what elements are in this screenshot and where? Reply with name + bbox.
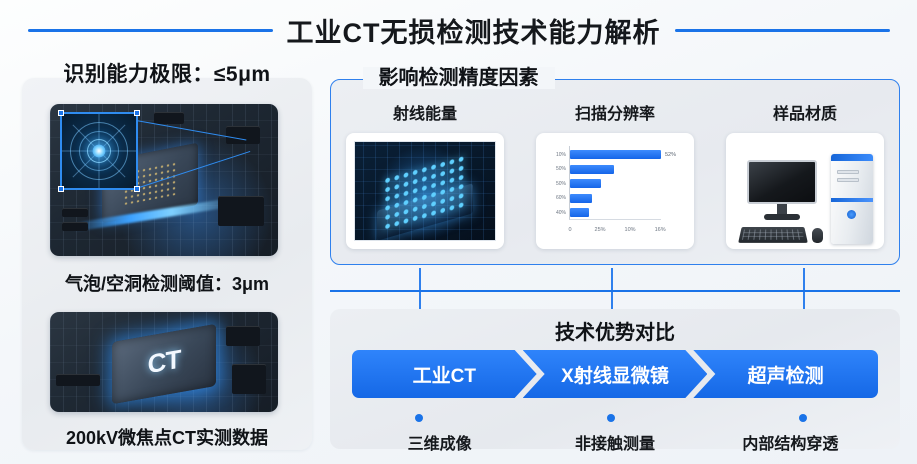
chart-data-label: 52%: [665, 152, 676, 158]
pcb-component: [232, 364, 266, 394]
chart-x-tick: 0: [568, 227, 571, 233]
tower-top-accent: [831, 154, 873, 161]
comparison-chevron-row: 工业CT X射线显微镜 超声检测: [352, 350, 878, 398]
connector-line-sample-material: [803, 268, 805, 290]
ct-chip-label: CT: [148, 344, 181, 381]
selection-handle-bottom-right[interactable]: [134, 186, 140, 192]
chevron-step-industrial-ct[interactable]: 工业CT: [352, 350, 537, 398]
page-title: 工业CT无损检测技术能力解析: [287, 11, 661, 50]
footnote-dot-b: [607, 414, 615, 422]
pcb-component: [56, 374, 100, 386]
selection-handle-bottom-left[interactable]: [58, 186, 64, 192]
tower-drive-bay: [837, 170, 859, 174]
chart-bar: [570, 150, 661, 159]
monitor-icon: [747, 160, 817, 204]
computer-scene: [735, 142, 875, 240]
chart-category-label: 10%: [556, 152, 566, 158]
ct-chip-photo: CT: [50, 312, 278, 412]
pcb-component: [218, 196, 264, 226]
chart-bar: [570, 179, 601, 188]
factor-column-ray-energy: 射线能量: [330, 100, 520, 265]
pcb-component: [62, 222, 88, 231]
footnote-non-contact: 非接触测量: [527, 430, 702, 454]
tower-mid-accent: [831, 198, 873, 202]
page-title-row: 工业CT无损检测技术能力解析: [0, 8, 917, 52]
chevron-step-xray-microscope[interactable]: X射线显微镜: [523, 350, 708, 398]
title-rule-left: [28, 29, 273, 32]
chart-category-label: 40%: [556, 210, 566, 216]
chevron-label: X射线显微镜: [561, 361, 669, 388]
pcb-component: [226, 326, 260, 346]
power-button-icon[interactable]: [847, 210, 856, 219]
chart-bar-row: 50%: [570, 165, 661, 174]
cube-dot-grid: [383, 153, 467, 233]
chart-bar: [570, 165, 614, 174]
chart-bar: [570, 208, 589, 217]
energy-image-background: [354, 141, 496, 241]
selection-handle-top-left[interactable]: [58, 110, 64, 116]
connector-line-ray-energy: [419, 268, 421, 290]
chart-x-tick: 25%: [595, 227, 606, 233]
chevron-label: 超声检测: [748, 361, 824, 388]
accuracy-factors-columns: 射线能量 扫描分辨率 10%52%50%50%60%40%025%10%16%: [330, 100, 900, 265]
monitor-stand-base: [764, 214, 800, 220]
chart-bar-row: 40%: [570, 208, 661, 217]
chart-category-label: 60%: [556, 195, 566, 201]
comparison-footnotes: 三维成像 非接触测量 内部结构穿透: [352, 430, 878, 454]
chart-inner: 10%52%50%50%60%40%025%10%16%: [543, 140, 687, 242]
desktop-computer: [726, 133, 884, 249]
chart-bar-row: 50%: [570, 179, 661, 188]
circuit-board-magnified-photo: [50, 104, 278, 256]
chevron-step-ultrasonic[interactable]: 超声检测: [693, 350, 878, 398]
footnote-dot-a: [415, 414, 423, 422]
chart-x-tick: 16%: [655, 227, 666, 233]
section-divider: [330, 290, 900, 292]
keyboard-icon: [738, 227, 808, 243]
void-threshold-caption: 气泡/空洞检测阈值：3μm: [22, 270, 312, 296]
factor-column-sample-material: 样品材质: [710, 100, 900, 265]
factor-label-ray-energy: 射线能量: [393, 100, 457, 124]
footnote-dot-c: [799, 414, 807, 422]
computer-tower-icon: [831, 154, 873, 244]
reticle-core-glow: [93, 145, 106, 158]
pcb-component: [62, 208, 88, 217]
factor-column-scan-resolution: 扫描分辨率 10%52%50%50%60%40%025%10%16%: [520, 100, 710, 265]
pcb-component: [154, 112, 184, 124]
chart-category-label: 50%: [556, 181, 566, 187]
tower-drive-bay: [837, 178, 859, 182]
chart-x-tick: 10%: [625, 227, 636, 233]
selection-handle-top-right[interactable]: [134, 110, 140, 116]
mouse-icon: [812, 228, 823, 243]
accuracy-factors-title-wrap: 影响检测精度因素: [0, 61, 917, 90]
factor-label-sample-material: 样品材质: [773, 100, 837, 124]
pcb-component: [226, 126, 260, 144]
footnote-internal-penetration: 内部结构穿透: [703, 430, 878, 454]
chart-bar: [570, 194, 592, 203]
connector-line-scan-resolution: [611, 268, 613, 290]
measurement-source-caption: 200kV微焦点CT实测数据: [22, 424, 312, 450]
chevron-label: 工业CT: [413, 361, 476, 388]
chart-bar-row: 60%: [570, 194, 661, 203]
title-rule-right: [675, 29, 890, 32]
chart-plot-area: 10%52%50%50%60%40%025%10%16%: [569, 146, 661, 220]
accuracy-factors-title: 影响检测精度因素: [363, 67, 555, 89]
chart-category-label: 50%: [556, 166, 566, 172]
glowing-dot-matrix-cube: [346, 133, 504, 249]
technology-comparison-title: 技术优势对比: [330, 316, 900, 345]
target-reticle-inset: [60, 112, 138, 190]
infographic-page: 工业CT无损检测技术能力解析 识别能力极限：≤5μm: [0, 0, 917, 464]
horizontal-bar-chart: 10%52%50%50%60%40%025%10%16%: [536, 133, 694, 249]
factor-label-scan-resolution: 扫描分辨率: [575, 100, 655, 124]
chart-bar-row: 10%52%: [570, 150, 661, 159]
footnote-3d-imaging: 三维成像: [352, 430, 527, 454]
dot-matrix-cube: [383, 165, 467, 221]
